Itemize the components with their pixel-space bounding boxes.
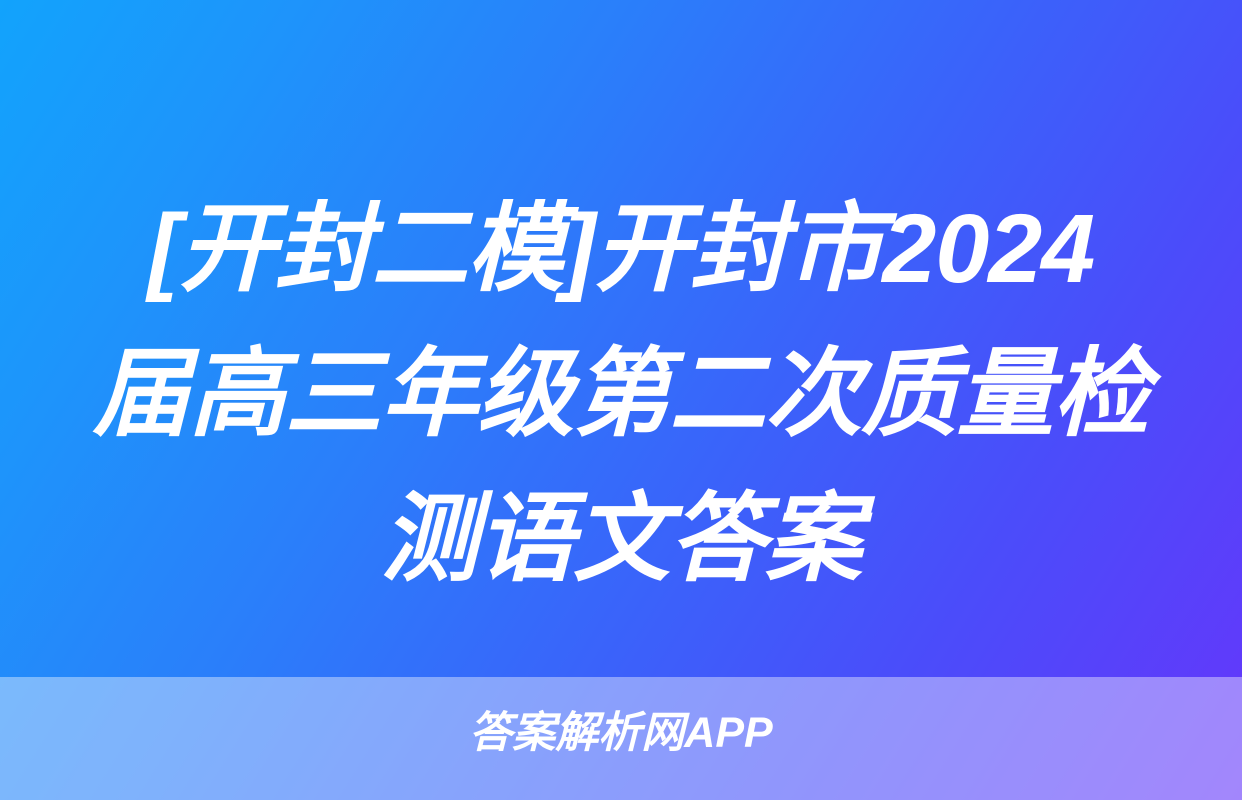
title-line-2: 届高三年级第二次质量检 — [0, 321, 1242, 466]
title-block: [开封二模]开封市2024 届高三年级第二次质量检 测语文答案 — [0, 176, 1242, 611]
title-line-1: [开封二模]开封市2024 — [0, 176, 1242, 321]
title-line-3: 测语文答案 — [0, 466, 1242, 611]
app-watermark: 答案解析网APP — [0, 707, 1242, 759]
poster-canvas: [开封二模]开封市2024 届高三年级第二次质量检 测语文答案 答案解析网APP — [0, 0, 1242, 800]
